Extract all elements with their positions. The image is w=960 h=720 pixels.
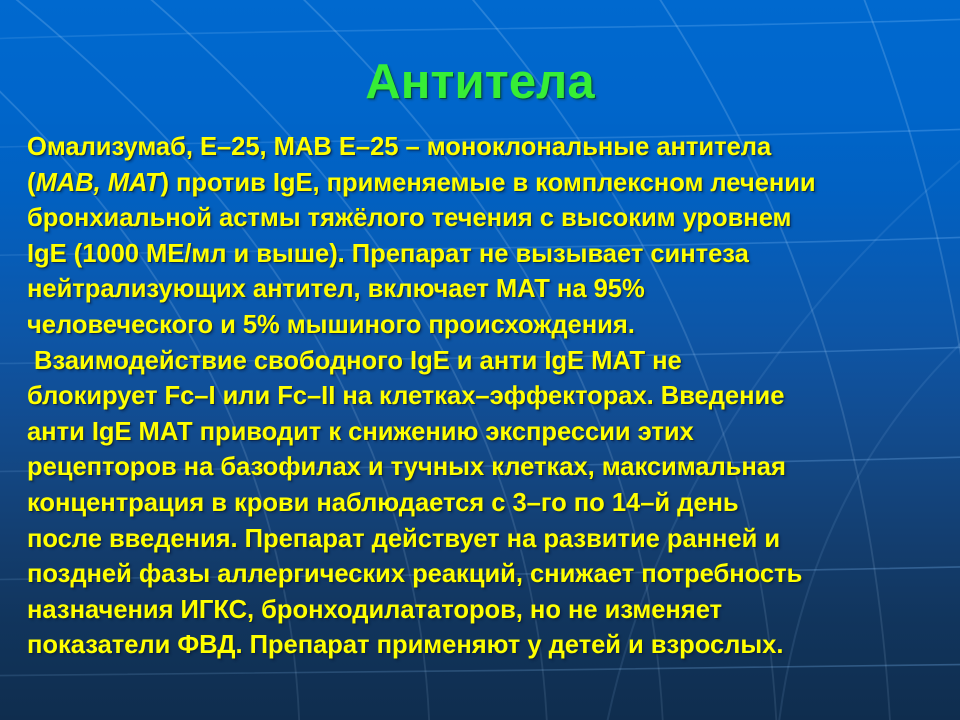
- italic-text: МАВ, МАТ: [35, 169, 160, 197]
- body-line-1: Омализумаб, Е–25, МАВ Е–25 – моноклональ…: [27, 130, 939, 166]
- body-line-6: человеческого и 5% мышиного происхождени…: [27, 308, 939, 344]
- body-line-14: назначения ИГКС, бронходилататоров, но н…: [27, 593, 939, 629]
- body-line-11: концентрация в крови наблюдается с 3–го …: [27, 486, 939, 522]
- plain-text: ) против IgE, применяемые в комплексном …: [160, 169, 815, 197]
- body-line-5: нейтрализующих антител, включает МАТ на …: [27, 272, 939, 308]
- body-line-4: IgE (1000 МЕ/мл и выше). Препарат не выз…: [27, 237, 939, 273]
- slide-title: Антитела: [365, 57, 595, 109]
- body-line-8: блокирует Fc–I или Fc–II на клетках–эффе…: [27, 379, 939, 415]
- body-line-3: бронхиальной астмы тяжёлого течения с вы…: [27, 201, 939, 237]
- body-line-15: показатели ФВД. Препарат применяют у дет…: [27, 628, 939, 664]
- body-line-10: рецепторов на базофилах и тучных клетках…: [27, 450, 939, 486]
- slide-body: Омализумаб, Е–25, МАВ Е–25 – моноклональ…: [27, 130, 939, 664]
- body-line-13: поздней фазы аллергических реакций, сниж…: [27, 557, 939, 593]
- presentation-slide: Антитела Омализумаб, Е–25, МАВ Е–25 – мо…: [0, 0, 960, 720]
- body-line-2: (МАВ, МАТ) против IgE, применяемые в ком…: [27, 166, 939, 202]
- body-line-9: анти IgE МАТ приводит к снижению экспрес…: [27, 415, 939, 451]
- title-container: Антитела: [0, 57, 960, 109]
- body-line-12: после введения. Препарат действует на ра…: [27, 522, 939, 558]
- body-line-7: Взаимодействие свободного IgE и анти IgE…: [27, 344, 939, 380]
